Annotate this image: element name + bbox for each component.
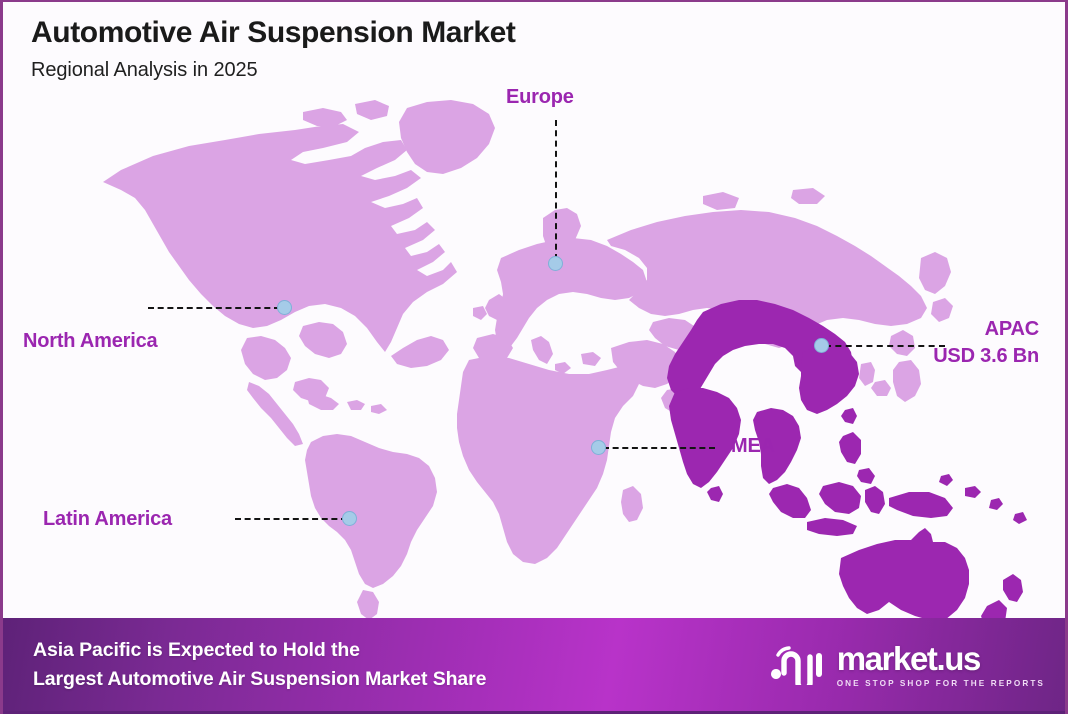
world-map-svg [3, 90, 1068, 620]
connector-line-latin-america [235, 518, 347, 520]
map-marker-europe[interactable] [548, 256, 563, 271]
footer-insight-text: Asia Pacific is Expected to Hold the Lar… [33, 636, 486, 693]
page-subtitle: Regional Analysis in 2025 [31, 59, 516, 82]
map-region-latin-america[interactable] [305, 434, 437, 620]
connector-line-europe [555, 120, 557, 260]
map-marker-apac[interactable] [814, 338, 829, 353]
page-title: Automotive Air Suspension Market [31, 16, 516, 51]
logo-wordmark: market.us [837, 642, 1045, 675]
footer-line-1: Asia Pacific is Expected to Hold the [33, 636, 486, 664]
map-marker-mea[interactable] [591, 440, 606, 455]
footer-banner: Asia Pacific is Expected to Hold the Lar… [3, 618, 1068, 714]
region-label-latin-america[interactable]: Latin America [43, 507, 172, 531]
region-label-north-america[interactable]: North America [23, 329, 157, 353]
region-label-apac-name: APAC [985, 318, 1039, 340]
brand-logo[interactable]: market.us ONE STOP SHOP FOR THE REPORTS [770, 639, 1045, 690]
map-marker-north-america[interactable] [277, 300, 292, 315]
connector-line-mea [603, 447, 715, 449]
region-label-mea[interactable]: MEA [731, 434, 775, 458]
market-us-glyph-icon [770, 639, 828, 690]
map-region-north-america[interactable] [103, 100, 495, 446]
header: Automotive Air Suspension Market Regiona… [31, 16, 516, 82]
region-value-apac: USD 3.6 Bn [933, 344, 1039, 368]
logo-tagline: ONE STOP SHOP FOR THE REPORTS [837, 679, 1045, 688]
map-marker-latin-america[interactable] [342, 511, 357, 526]
footer-line-2: Largest Automotive Air Suspension Market… [33, 665, 486, 693]
logo-text-block: market.us ONE STOP SHOP FOR THE REPORTS [837, 642, 1045, 688]
region-label-europe[interactable]: Europe [506, 85, 574, 109]
infographic-container: Automotive Air Suspension Market Regiona… [0, 0, 1068, 714]
world-map [3, 90, 1068, 620]
connector-line-north-america [148, 307, 280, 309]
region-label-apac[interactable]: APAC USD 3.6 Bn [933, 317, 1039, 368]
connector-line-apac [825, 345, 945, 347]
